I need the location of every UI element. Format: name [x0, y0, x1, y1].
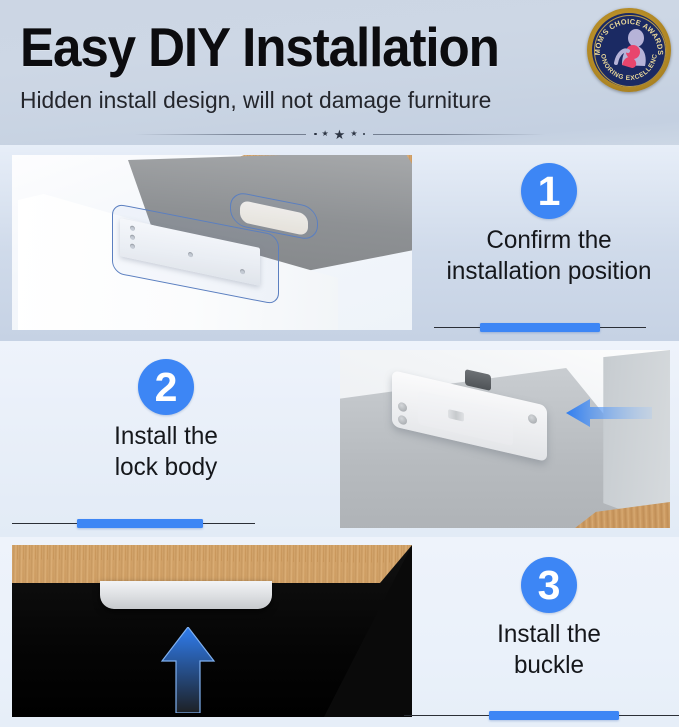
screw-hole: [528, 414, 537, 425]
step-3-caption: Install the buckle: [424, 619, 674, 681]
step-1-caption-line2: installation position: [424, 256, 674, 287]
screw-hole: [398, 401, 407, 412]
underline-accent-bar: [480, 323, 600, 332]
step-3-caption-line1: Install the: [424, 619, 674, 650]
step-1-text: 1 Confirm the installation position: [420, 163, 678, 287]
step-1-caption-line1: Confirm the: [424, 225, 674, 256]
step-2-image: [340, 350, 670, 528]
upward-arrow-icon: [160, 627, 216, 713]
page-subtitle: Hidden install design, will not damage f…: [20, 86, 602, 114]
step-1-underline: [434, 322, 646, 332]
dot-icon: [363, 133, 366, 136]
award-badge-artwork: MOM'S CHOICE AWARDS HONORING EXCELLENCE: [592, 13, 666, 87]
header-banner: Easy DIY Installation Hidden install des…: [0, 0, 679, 145]
step-2-text: 2 Install the lock body: [16, 359, 316, 483]
step-3-caption-line2: buckle: [424, 650, 674, 681]
mother-and-child-figure: [616, 29, 646, 68]
ornamental-divider: ★ ★ ★: [0, 126, 679, 142]
step-3-text: 3 Install the buckle: [420, 557, 678, 681]
product-infographic: Easy DIY Installation Hidden install des…: [0, 0, 679, 727]
divider-line-left: [134, 134, 306, 135]
step-2-caption-line1: Install the: [21, 421, 312, 452]
step-1-caption: Confirm the installation position: [424, 225, 674, 287]
dot-icon: [314, 133, 317, 136]
step-3-underline: [404, 710, 679, 720]
divider-line-right: [373, 134, 545, 135]
screw-hole: [398, 414, 407, 425]
star-icon: ★: [350, 130, 357, 138]
star-icon: ★: [322, 130, 329, 138]
step-2-section: 2 Install the lock body: [0, 341, 679, 537]
page-title: Easy DIY Installation: [20, 18, 541, 76]
table-top-wood: [12, 545, 412, 583]
step-1-section: 1 Confirm the installation position: [0, 145, 679, 341]
step-2-number: 2: [138, 359, 194, 415]
underline-accent-bar: [77, 519, 203, 528]
step-3-image: [12, 545, 412, 717]
step-2-caption-line2: lock body: [21, 452, 312, 483]
underline-accent-bar: [489, 711, 619, 720]
star-icon-large: ★: [334, 128, 346, 141]
award-badge-inner: MOM'S CHOICE AWARDS HONORING EXCELLENCE: [592, 13, 666, 87]
step-2-caption: Install the lock body: [21, 421, 312, 483]
direction-arrow-icon: [566, 398, 652, 428]
divider-ornament: ★ ★ ★: [306, 128, 373, 141]
step-3-number: 3: [521, 557, 577, 613]
step-2-underline: [12, 518, 255, 528]
step-3-section: 3 Install the buckle: [0, 537, 679, 727]
buckle-component: [100, 581, 272, 609]
award-badge: MOM'S CHOICE AWARDS HONORING EXCELLENCE: [587, 8, 671, 92]
step-1-number: 1: [521, 163, 577, 219]
step-1-image: [12, 155, 412, 330]
